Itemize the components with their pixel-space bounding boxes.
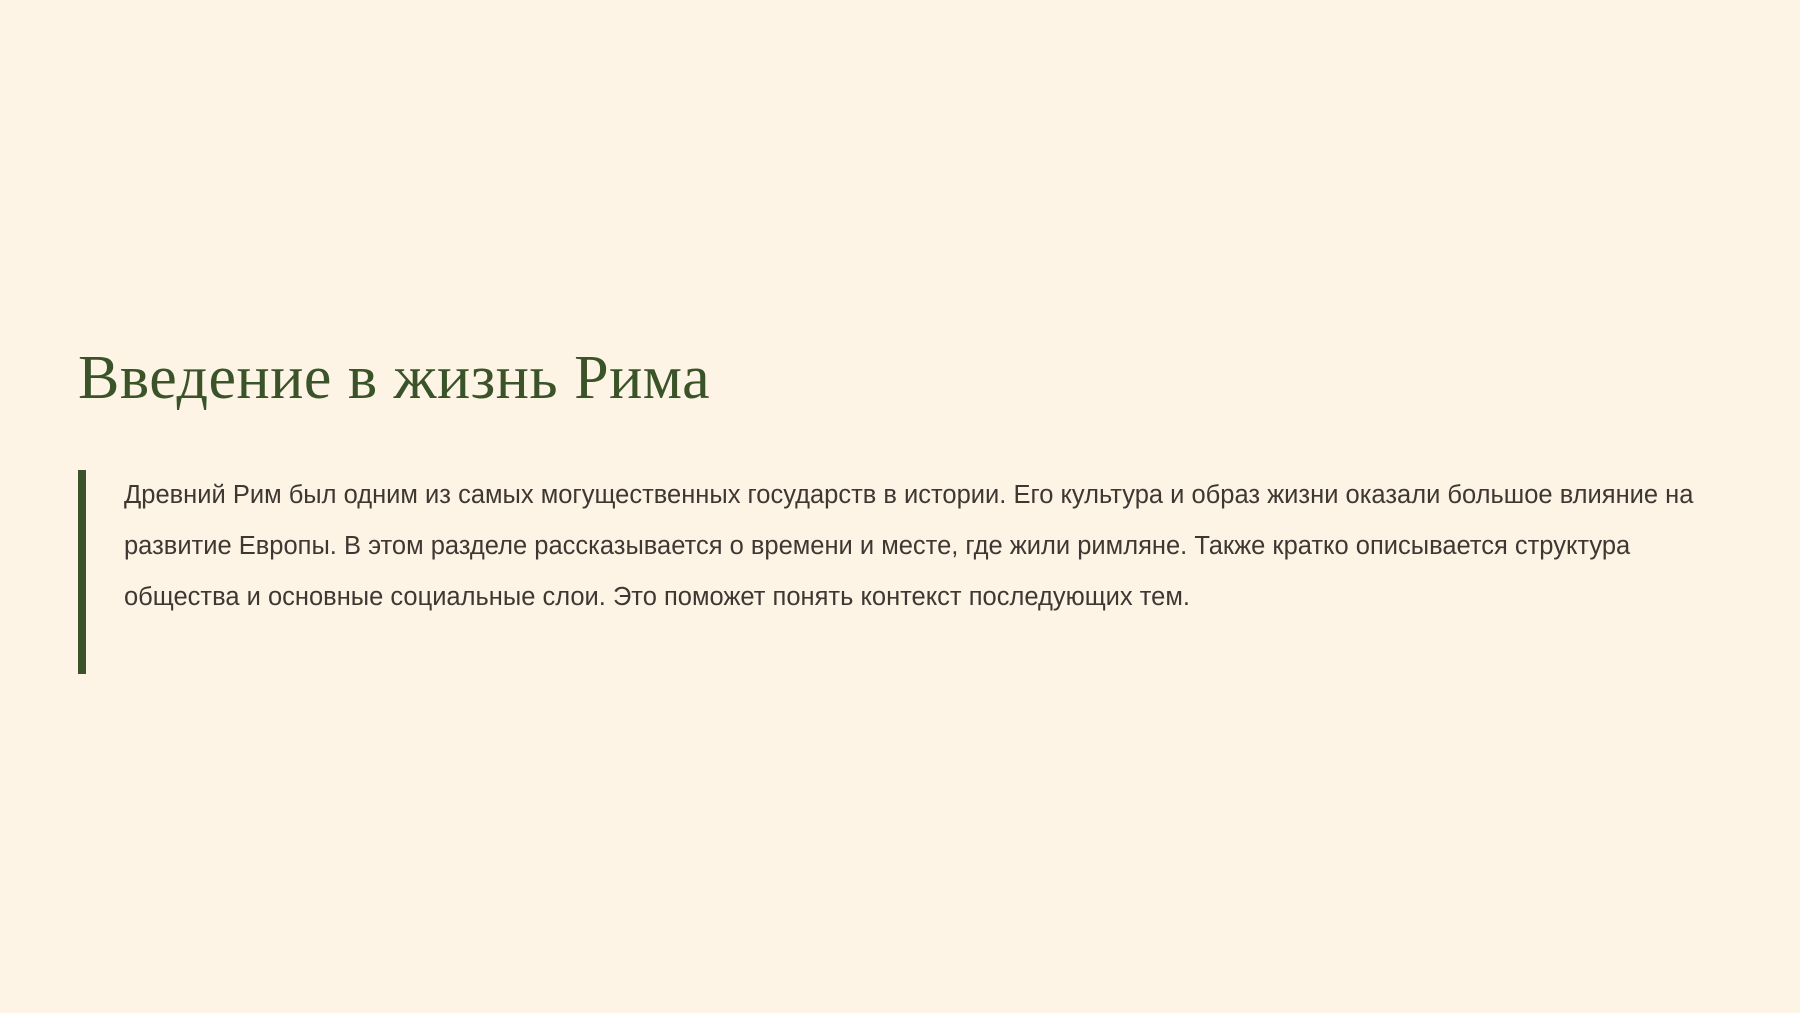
slide-canvas: Введение в жизнь Рима Древний Рим был од… (0, 0, 1800, 1013)
intro-paragraph: Древний Рим был одним из самых могуществ… (124, 470, 1738, 623)
page-title: Введение в жизнь Рима (78, 345, 1738, 412)
intro-callout: Древний Рим был одним из самых могуществ… (78, 470, 1738, 623)
content-block: Введение в жизнь Рима Древний Рим был од… (78, 345, 1738, 623)
accent-bar (78, 470, 86, 674)
